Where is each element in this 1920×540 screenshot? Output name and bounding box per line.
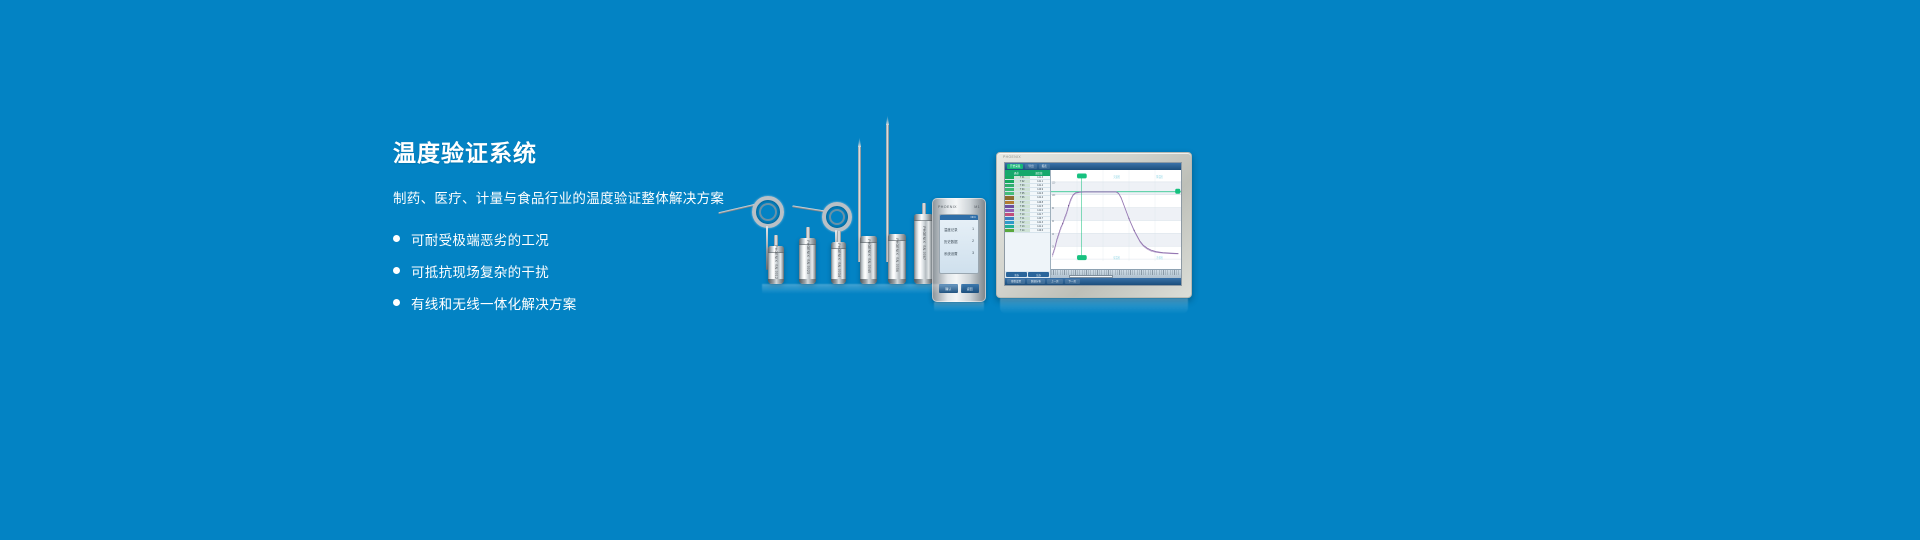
cell-channel: T 08 bbox=[1014, 205, 1030, 208]
cell-value: 121.3 bbox=[1030, 221, 1050, 224]
hero-banner: 温度验证系统 制药、医疗、计量与食品行业的温度验证整体解决方案 可耐受极端恶劣的… bbox=[0, 0, 1920, 540]
col-header-value: 温度值 bbox=[1028, 171, 1051, 175]
toolbar-start-acquisition[interactable]: 开始采集 bbox=[1007, 164, 1023, 169]
product-photo-group: PHOENIX SN-0012 PHOENIX SN-0023 PHOENIX … bbox=[700, 110, 1240, 330]
cell-value: 120.8 bbox=[1030, 201, 1050, 204]
monitor-screen: 开始采集 导出 报表 通道 温度值 T 01121.3 T 02121.1 bbox=[1004, 162, 1182, 286]
toolbar-export[interactable]: 导出 bbox=[1025, 164, 1036, 169]
monitor-reflection bbox=[1000, 298, 1188, 314]
series-color-swatch bbox=[1005, 201, 1014, 204]
handheld-menu-value: 3 bbox=[972, 251, 974, 256]
svg-text:保温段: 保温段 bbox=[1113, 256, 1120, 261]
chart-svg: 灭菌段 降温段 保温段 冷却段 120 100 80 bbox=[1051, 170, 1181, 269]
series-color-swatch bbox=[1005, 176, 1014, 179]
data-logger-5: PHOENIX SN-0056 bbox=[888, 234, 906, 284]
cell-value: 121.4 bbox=[1030, 184, 1050, 187]
plot-panel: 灭菌段 降温段 保温段 冷却段 120 100 80 bbox=[1051, 170, 1181, 278]
series-color-swatch bbox=[1005, 225, 1014, 228]
svg-text:降温段: 降温段 bbox=[1156, 174, 1163, 179]
cell-channel: T 04 bbox=[1014, 188, 1030, 191]
series-color-swatch bbox=[1005, 196, 1014, 199]
cell-channel: T 12 bbox=[1014, 221, 1030, 224]
logger-label: PHOENIX SN-0034 bbox=[836, 243, 840, 277]
series-color-swatch bbox=[1005, 229, 1014, 232]
handheld-reader[interactable]: PHOENIX M1 NFC 温度记录 1 历史数据 2 系统设置 3 bbox=[932, 198, 986, 302]
industrial-monitor: PHOENIX 开始采集 导出 报表 通道 温度值 bbox=[996, 152, 1192, 298]
data-logger-4: PHOENIX SN-0045 bbox=[860, 236, 877, 284]
svg-text:120: 120 bbox=[1052, 181, 1056, 185]
handheld-menu-label: 温度记录 bbox=[944, 227, 958, 232]
probe-wire bbox=[792, 205, 826, 212]
bullet-dot-icon bbox=[393, 235, 400, 242]
logger-foot bbox=[860, 279, 877, 284]
cell-value: 121.0 bbox=[1030, 209, 1050, 212]
logger-foot bbox=[799, 279, 816, 284]
feature-label: 可耐受极端恶劣的工况 bbox=[411, 229, 549, 249]
select-all-button[interactable]: 全选 bbox=[1006, 272, 1027, 277]
logger-label: PHOENIX SN-0056 bbox=[895, 238, 899, 272]
handheld-model: M1 bbox=[974, 205, 980, 209]
cell-channel: T 10 bbox=[1014, 213, 1030, 216]
coiled-cable-probe-left bbox=[718, 196, 798, 240]
handheld-menu-row[interactable]: 温度记录 1 bbox=[940, 227, 978, 232]
app-toolbar: 开始采集 导出 报表 bbox=[1005, 163, 1181, 170]
app-body: 通道 温度值 T 01121.3 T 02121.1 T 03121.4 T 0… bbox=[1005, 170, 1181, 278]
svg-text:冷却段: 冷却段 bbox=[1156, 256, 1163, 261]
cell-channel: T 01 bbox=[1014, 176, 1030, 179]
series-color-swatch bbox=[1005, 188, 1014, 191]
handheld-menu-row[interactable]: 历史数据 2 bbox=[940, 239, 978, 244]
cell-value: 121.3 bbox=[1030, 176, 1050, 179]
series-color-swatch bbox=[1005, 221, 1014, 224]
data-logger-2: PHOENIX SN-0023 bbox=[799, 238, 816, 284]
handheld-screen-title: NFC bbox=[971, 216, 976, 219]
app-bottom-toolbar: 参数设置 数据分析 上一页 下一页 bbox=[1005, 278, 1181, 285]
cell-value: 120.9 bbox=[1030, 188, 1050, 191]
series-color-swatch bbox=[1005, 184, 1014, 187]
cell-value: 121.6 bbox=[1030, 192, 1050, 195]
bottom-next-page[interactable]: 下一页 bbox=[1065, 279, 1081, 284]
handheld-menu-value: 2 bbox=[972, 239, 974, 244]
cell-channel: T 11 bbox=[1014, 217, 1030, 220]
temperature-chart[interactable]: 灭菌段 降温段 保温段 冷却段 120 100 80 bbox=[1051, 170, 1181, 269]
channel-rows: T 01121.3 T 02121.1 T 03121.4 T 04120.9 … bbox=[1005, 176, 1050, 271]
handheld-back-button[interactable]: 返回 bbox=[961, 284, 980, 293]
handheld-confirm-button[interactable]: 确认 bbox=[939, 284, 958, 293]
handheld-brand-row: PHOENIX M1 bbox=[938, 205, 980, 209]
cell-channel: T 06 bbox=[1014, 196, 1030, 199]
time-axis-scrollbar[interactable] bbox=[1051, 269, 1181, 278]
handheld-menu-value: 1 bbox=[972, 227, 974, 232]
cell-value: 121.1 bbox=[1030, 180, 1050, 183]
cell-channel: T 02 bbox=[1014, 180, 1030, 183]
bullet-dot-icon bbox=[393, 299, 400, 306]
handheld-screen: NFC 温度记录 1 历史数据 2 系统设置 3 bbox=[939, 214, 979, 274]
handheld-brand: PHOENIX bbox=[938, 205, 957, 209]
cell-channel: T 07 bbox=[1014, 201, 1030, 204]
logger-foot bbox=[914, 279, 933, 284]
logger-foot bbox=[888, 279, 906, 284]
logger-label: PHOENIX SN-0012 bbox=[774, 246, 778, 280]
logger-foot bbox=[768, 279, 784, 284]
bottom-prev-page[interactable]: 上一页 bbox=[1047, 279, 1063, 284]
logger-foot bbox=[831, 279, 846, 284]
cell-channel: T 03 bbox=[1014, 184, 1030, 187]
handheld-reflection bbox=[934, 302, 984, 312]
series-color-swatch bbox=[1005, 180, 1014, 183]
scrollbar-thumb[interactable] bbox=[1069, 275, 1113, 278]
series-color-swatch bbox=[1005, 209, 1014, 212]
logger-cap bbox=[914, 214, 933, 221]
logger-label: PHOENIX SN-0045 bbox=[866, 240, 870, 274]
channel-sidebar: 通道 温度值 T 01121.3 T 02121.1 T 03121.4 T 0… bbox=[1005, 170, 1051, 278]
channel-sidebar-footer: 全选 反选 bbox=[1005, 271, 1050, 278]
bottom-parameter-settings[interactable]: 参数设置 bbox=[1007, 279, 1025, 284]
feature-label: 有线和无线一体化解决方案 bbox=[411, 293, 577, 313]
data-logger-1: PHOENIX SN-0012 bbox=[768, 246, 784, 284]
cell-value: 120.6 bbox=[1030, 229, 1050, 232]
cell-channel: T 13 bbox=[1014, 225, 1030, 228]
monitor-brand: PHOENIX bbox=[1003, 155, 1021, 159]
svg-text:灭菌段: 灭菌段 bbox=[1113, 174, 1120, 179]
invert-selection-button[interactable]: 反选 bbox=[1028, 272, 1049, 277]
probe-wire bbox=[718, 204, 755, 214]
series-color-swatch bbox=[1005, 192, 1014, 195]
cell-channel: T 14 bbox=[1014, 229, 1030, 232]
feature-label: 可抵抗现场复杂的干扰 bbox=[411, 261, 549, 281]
cell-channel: T 05 bbox=[1014, 192, 1030, 195]
data-logger-6: PHOENIX SN-0067 bbox=[914, 214, 933, 284]
data-logger-3: PHOENIX SN-0034 bbox=[831, 242, 846, 284]
handheld-menu-label: 历史数据 bbox=[944, 239, 958, 244]
handheld-screen-titlebar: NFC bbox=[940, 215, 978, 220]
toolbar-report[interactable]: 报表 bbox=[1039, 164, 1050, 169]
bottom-data-analysis[interactable]: 数据分析 bbox=[1027, 279, 1045, 284]
handheld-button-row: 确认 返回 bbox=[939, 284, 979, 293]
handheld-menu-label: 系统设置 bbox=[944, 251, 958, 256]
logger-label: PHOENIX SN-0067 bbox=[921, 226, 925, 260]
cell-value: 121.2 bbox=[1030, 196, 1050, 199]
cell-value: 121.5 bbox=[1030, 205, 1050, 208]
bullet-dot-icon bbox=[393, 267, 400, 274]
col-header-channel: 通道 bbox=[1005, 171, 1028, 175]
series-color-swatch bbox=[1005, 213, 1014, 216]
logger-label: PHOENIX SN-0023 bbox=[805, 241, 809, 275]
table-row[interactable]: T 14120.6 bbox=[1005, 229, 1050, 233]
cell-channel: T 09 bbox=[1014, 209, 1030, 212]
handheld-menu-row[interactable]: 系统设置 3 bbox=[940, 251, 978, 256]
cell-value: 121.2 bbox=[1030, 225, 1050, 228]
cell-value: 120.7 bbox=[1030, 217, 1050, 220]
cell-value: 121.7 bbox=[1030, 213, 1050, 216]
svg-text:100: 100 bbox=[1052, 194, 1056, 198]
probe-coil-icon bbox=[752, 196, 784, 228]
probe-coil-icon bbox=[822, 202, 852, 232]
series-color-swatch bbox=[1005, 205, 1014, 208]
series-color-swatch bbox=[1005, 217, 1014, 220]
